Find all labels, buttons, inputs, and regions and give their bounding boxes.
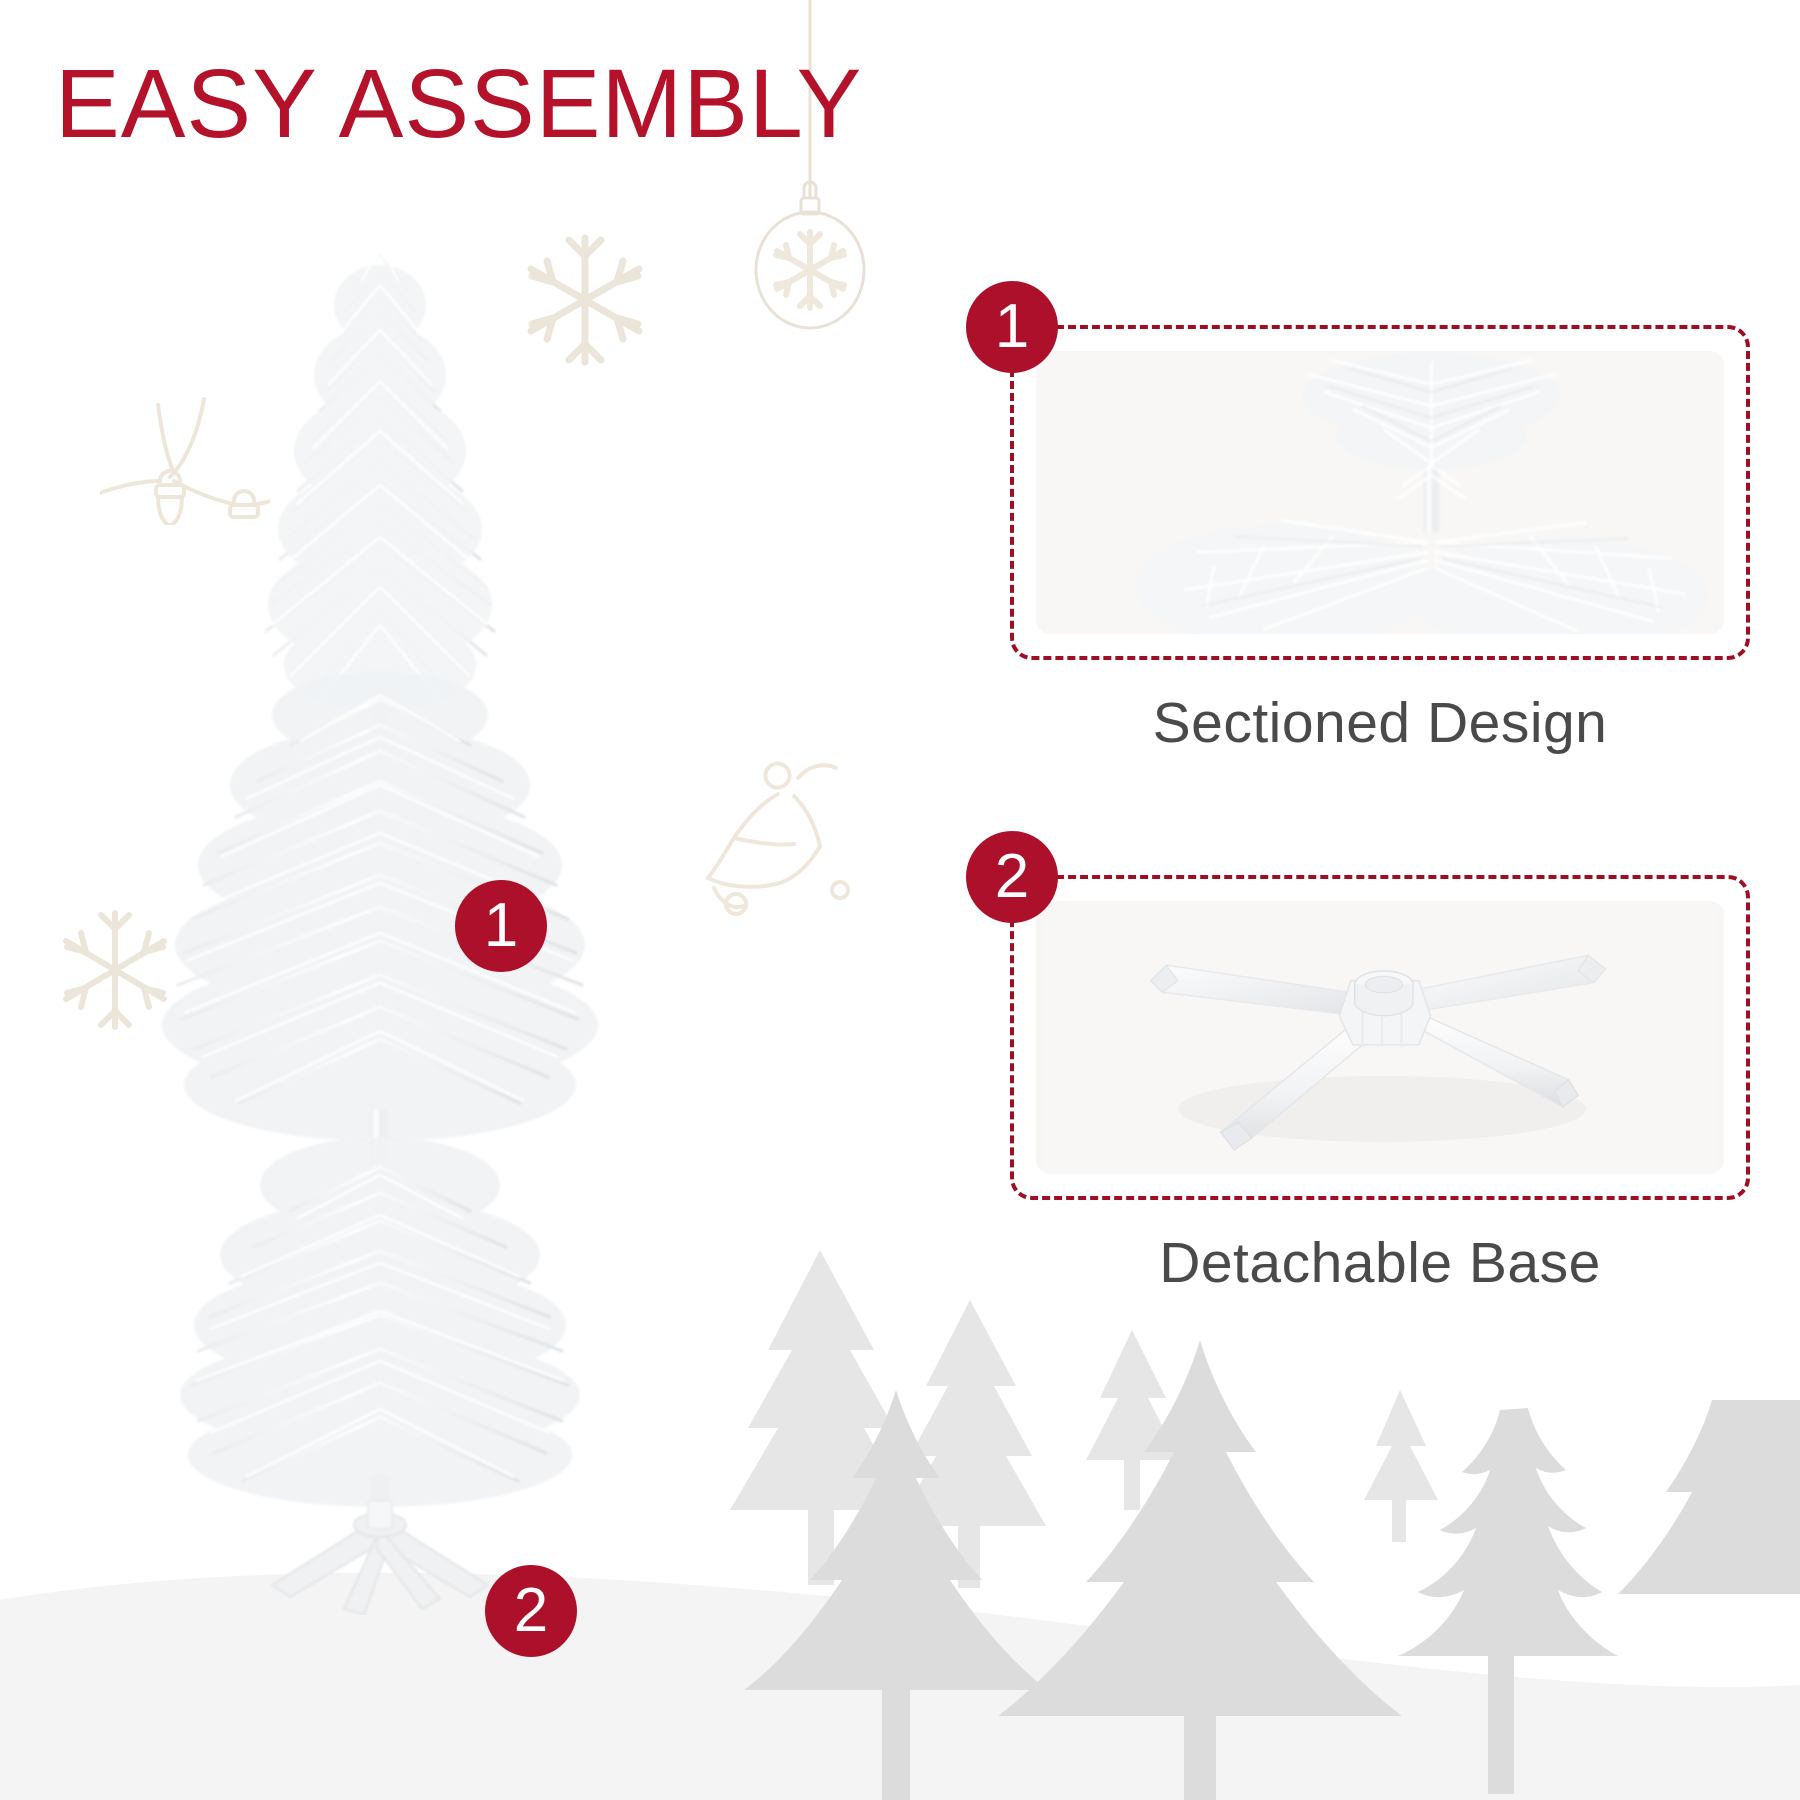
callout-image-1 [1036, 351, 1724, 634]
tree-marker-1[interactable]: 1 [455, 880, 547, 972]
tree-section-joint-photo [1036, 351, 1724, 634]
bell-icon [690, 760, 860, 920]
callout-panel-1[interactable]: 1 [1010, 325, 1750, 660]
poster-canvas: EASY ASSEMBLY [0, 0, 1800, 1800]
callout-caption-1: Sectioned Design [1010, 690, 1750, 756]
tree-bottom-section [180, 1137, 580, 1557]
callout-badge-1[interactable]: 1 [966, 281, 1058, 373]
tree-marker-2[interactable]: 2 [485, 1565, 577, 1657]
tree-top-section [266, 220, 494, 739]
tree-stand [272, 1501, 488, 1615]
callout-panel-2[interactable]: 2 [1010, 875, 1750, 1200]
callout-image-2 [1036, 901, 1724, 1174]
callout-badge-2[interactable]: 2 [966, 831, 1058, 923]
page-title: EASY ASSEMBLY [55, 55, 862, 152]
callout-caption-2: Detachable Base [1010, 1230, 1750, 1296]
detachable-tree-stand-photo [1036, 901, 1724, 1174]
christmas-tree-illustration [140, 185, 660, 1615]
